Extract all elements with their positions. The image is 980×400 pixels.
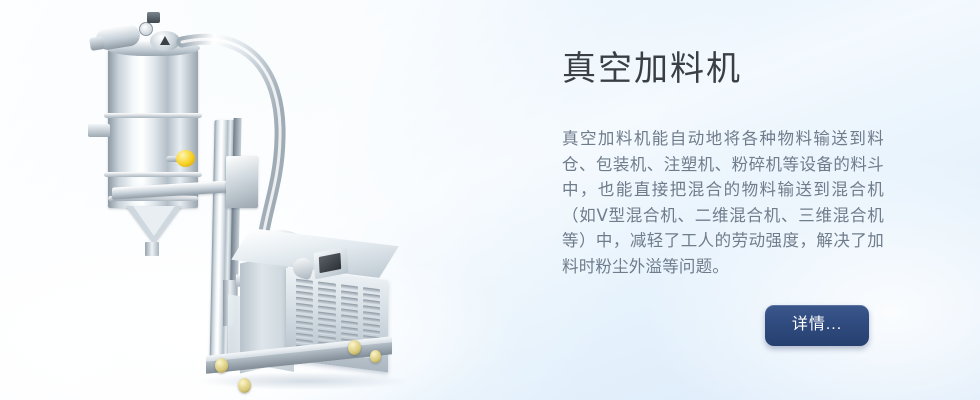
- mounting-plate: [226, 156, 258, 208]
- control-knob: [147, 12, 160, 23]
- caster-wheel: [238, 378, 251, 393]
- hopper-band: [104, 113, 202, 118]
- page-title: 真空加料机: [562, 48, 742, 90]
- valve-triangle-icon: [160, 36, 170, 45]
- caster-wheel: [348, 340, 361, 355]
- vacuum-pump-cap: [89, 36, 105, 51]
- product-banner: 真空加料机 真空加料机能自动地将各种物料输送到料仓、包装机、注塑机、粉碎机等设备…: [0, 0, 980, 400]
- pressure-gauge-icon: [139, 22, 153, 36]
- caster-wheel: [370, 350, 381, 363]
- banner-content: 真空加料机 真空加料机能自动地将各种物料输送到料仓、包装机、注塑机、粉碎机等设备…: [562, 0, 902, 400]
- product-description: 真空加料机能自动地将各种物料输送到料仓、包装机、注塑机、粉碎机等设备的料斗中，也…: [562, 126, 884, 279]
- product-image: [0, 0, 470, 400]
- details-button[interactable]: 详情...: [765, 305, 869, 346]
- ground-shadow: [196, 372, 412, 390]
- side-inlet-port: [88, 124, 110, 137]
- yellow-valve-handle: [176, 150, 195, 167]
- cta-wrapper: 详情...: [765, 305, 869, 346]
- hopper-band: [104, 172, 202, 177]
- discharge-spout: [145, 242, 159, 256]
- discharge-cone-highlight: [133, 206, 175, 236]
- caster-wheel: [215, 358, 228, 373]
